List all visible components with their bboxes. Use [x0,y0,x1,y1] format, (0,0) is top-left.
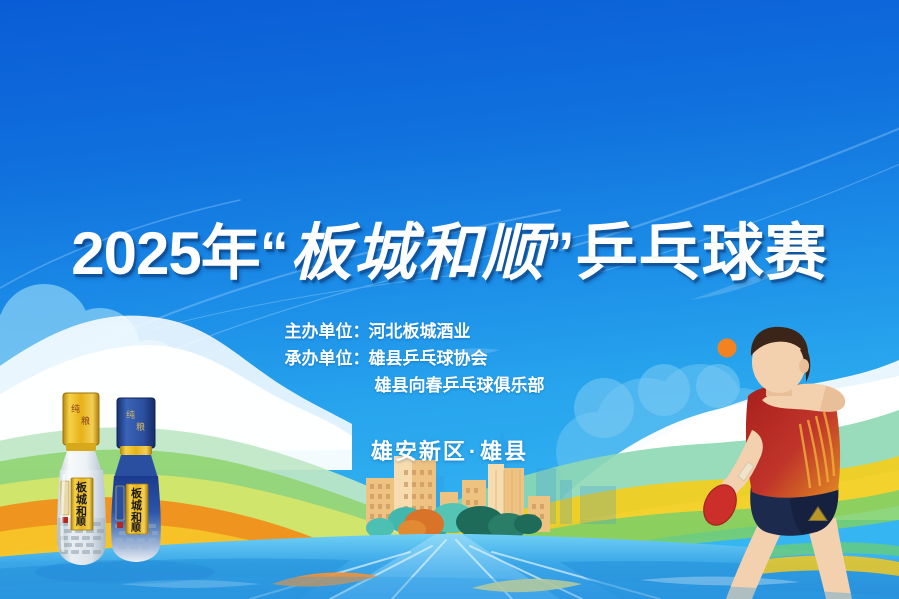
svg-text:顺: 顺 [76,516,86,528]
organizer-block: 主办单位：河北板城酒业 承办单位：雄县乒乓球协会 雄县向春乒乓球俱乐部 [0,318,899,399]
coorganizer-label: 承办单位： [285,345,369,372]
organizer-row-coorganizer-2: 雄县向春乒乓球俱乐部 [0,372,899,399]
venue-separator: · [467,439,480,464]
svg-text:城: 城 [131,498,142,512]
svg-text:城: 城 [76,492,87,506]
svg-text:板: 板 [76,480,88,494]
organizer-row-coorganizer: 承办单位：雄县乒乓球协会 [0,345,899,372]
host-value: 河北板城酒业 [369,318,471,345]
coorganizer-value: 雄县乒乓球协会 [369,345,488,372]
host-label: 主办单位： [285,318,369,345]
svg-text:和: 和 [76,504,87,518]
venue-text: 雄安新区·雄县 [0,434,899,466]
svg-text:纯: 纯 [71,403,80,414]
poster-canvas: 纯粮 [0,0,899,599]
svg-text:板: 板 [131,486,143,500]
svg-text:纯: 纯 [126,409,135,420]
organizer-row-host: 主办单位：河北板城酒业 [0,318,899,345]
venue-county: 雄县 [480,439,528,464]
venue-district: 雄安新区 [371,439,467,464]
background-artwork: 纯粮 [0,0,899,599]
svg-text:粮: 粮 [136,421,145,432]
svg-text:顺: 顺 [131,522,141,534]
coorganizer-value-2: 雄县向春乒乓球俱乐部 [285,372,545,399]
svg-text:和: 和 [131,510,142,524]
svg-text:粮: 粮 [81,415,90,426]
